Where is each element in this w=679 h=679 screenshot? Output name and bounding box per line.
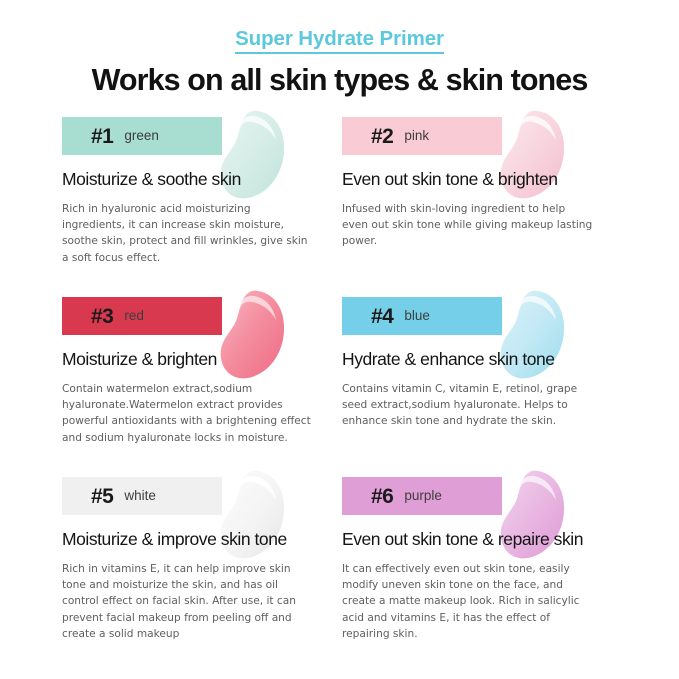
shade-description-3: Contain watermelon extract,sodium hyalur…: [62, 381, 314, 445]
shade-description-1: Rich in hyaluronic acid moisturizing ing…: [62, 201, 314, 265]
shade-number-4: #4: [371, 306, 393, 327]
shade-card-3: #3 red Moisturize & brighten Contain wat…: [62, 297, 342, 477]
shade-benefit-title-6: Even out skin tone & repaire skin: [342, 529, 622, 549]
shade-label-bar-1: #1 green: [62, 117, 222, 155]
shade-number-5: #5: [91, 486, 113, 507]
shade-number-3: #3: [91, 306, 113, 327]
shade-number-6: #6: [371, 486, 393, 507]
shade-label-bar-5: #5 white: [62, 477, 222, 515]
shade-name-4: blue: [404, 309, 430, 323]
shade-label-bar-4: #4 blue: [342, 297, 502, 335]
shade-name-1: green: [124, 129, 159, 143]
shade-benefit-title-3: Moisturize & brighten: [62, 349, 342, 369]
shade-benefit-title-4: Hydrate & enhance skin tone: [342, 349, 622, 369]
shade-benefit-title-2: Even out skin tone & brighten: [342, 169, 622, 189]
page-headline: Works on all skin types & skin tones: [62, 63, 617, 97]
shade-card-4: #4 blue Hydrate & enhance skin tone Cont…: [342, 297, 622, 477]
shade-benefit-title-1: Moisturize & soothe skin: [62, 169, 342, 189]
shade-label-bar-3: #3 red: [62, 297, 222, 335]
shade-card-grid: #1 green Moisturize & soothe skin Rich i…: [62, 117, 617, 657]
brand-title: Super Hydrate Primer: [235, 28, 444, 54]
shade-description-5: Rich in vitamins E, it can help improve …: [62, 561, 314, 641]
infographic-page: Super Hydrate Primer Works on all skin t…: [0, 0, 679, 679]
shade-description-6: It can effectively even out skin tone, e…: [342, 561, 594, 641]
shade-label-bar-2: #2 pink: [342, 117, 502, 155]
shade-name-6: purple: [404, 489, 442, 503]
shade-number-2: #2: [371, 126, 393, 147]
shade-card-1: #1 green Moisturize & soothe skin Rich i…: [62, 117, 342, 297]
shade-description-4: Contains vitamin C, vitamin E, retinol, …: [342, 381, 594, 429]
shade-description-2: Infused with skin-loving ingredient to h…: [342, 201, 594, 249]
shade-card-2: #2 pink Even out skin tone & brighten In…: [342, 117, 622, 297]
brand-title-row: Super Hydrate Primer: [62, 28, 617, 54]
shade-card-6: #6 purple Even out skin tone & repaire s…: [342, 477, 622, 657]
shade-number-1: #1: [91, 126, 113, 147]
shade-name-5: white: [124, 489, 156, 503]
shade-label-bar-6: #6 purple: [342, 477, 502, 515]
shade-name-3: red: [124, 309, 144, 323]
shade-benefit-title-5: Moisturize & improve skin tone: [62, 529, 342, 549]
shade-name-2: pink: [404, 129, 429, 143]
shade-card-5: #5 white Moisturize & improve skin tone …: [62, 477, 342, 657]
